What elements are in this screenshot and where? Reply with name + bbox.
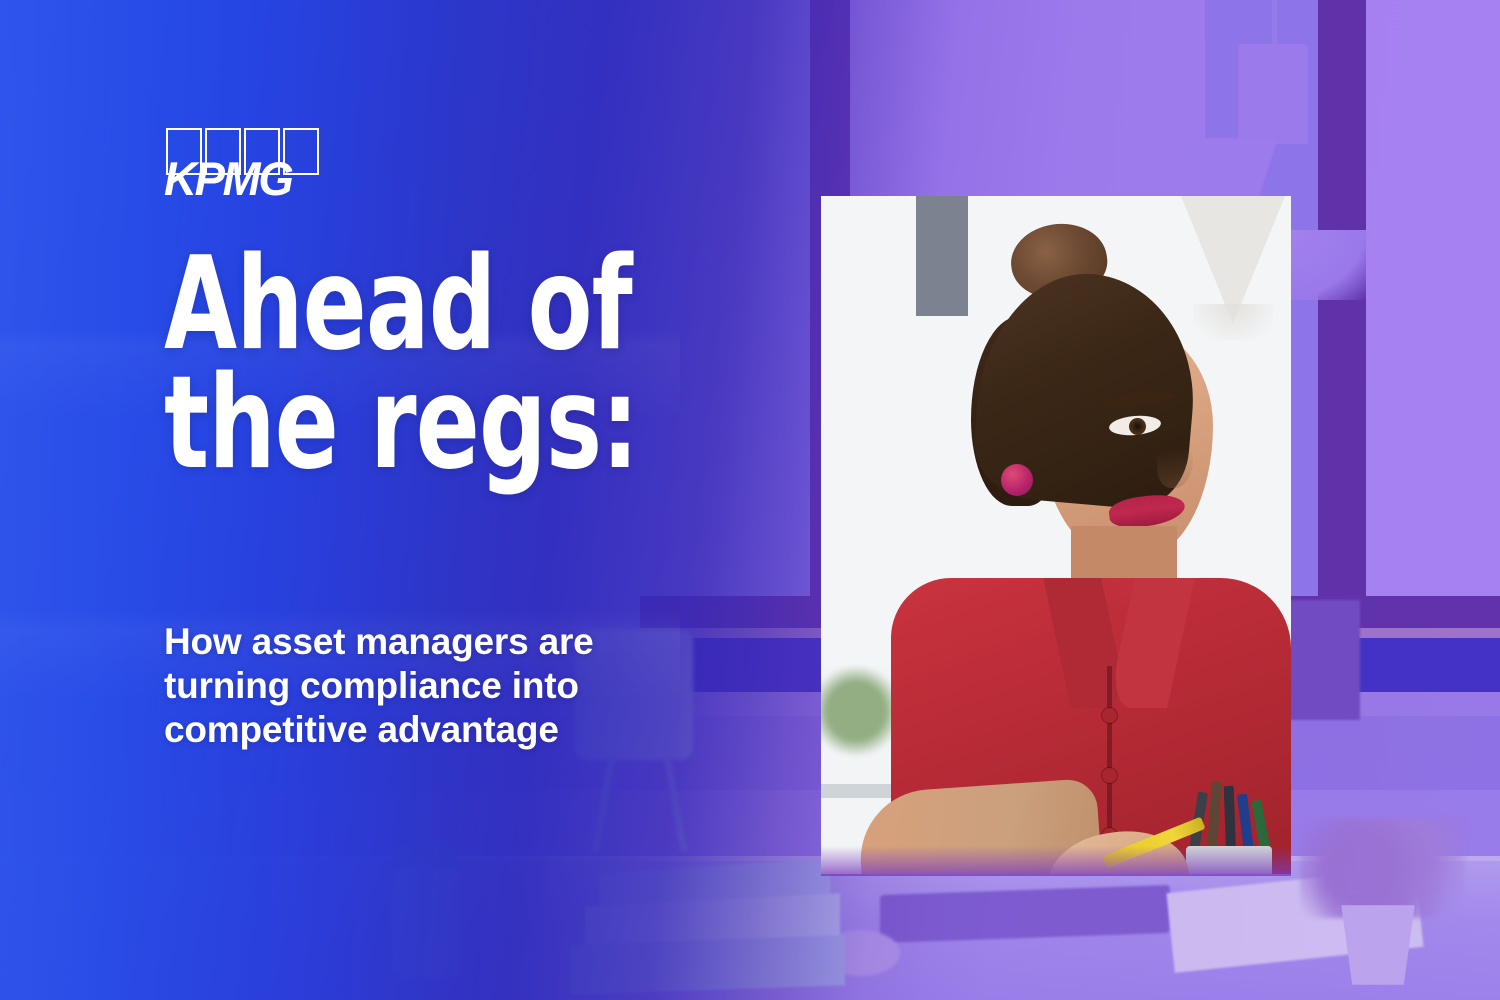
woman-earring [1001, 464, 1033, 496]
inset-photo-woman-at-desk [821, 196, 1291, 874]
inset-bottom-fade [821, 846, 1291, 876]
inset-lamp-glow [1193, 304, 1273, 340]
woman-shirt-button [1102, 708, 1117, 723]
page-subtitle: How asset managers are turning complianc… [164, 620, 724, 752]
woman-iris [1129, 418, 1146, 435]
page-title: Ahead of the regs: [164, 245, 672, 483]
kpmg-logo[interactable]: KPMG [166, 128, 326, 202]
inset-plant [821, 666, 901, 756]
kpmg-wordmark: KPMG [164, 155, 291, 202]
gradient-banding [0, 0, 680, 1000]
promo-banner: KPMG Ahead of the regs: How asset manage… [0, 0, 1500, 1000]
inset-window-frame [916, 196, 968, 316]
woman-shirt-button [1102, 768, 1117, 783]
